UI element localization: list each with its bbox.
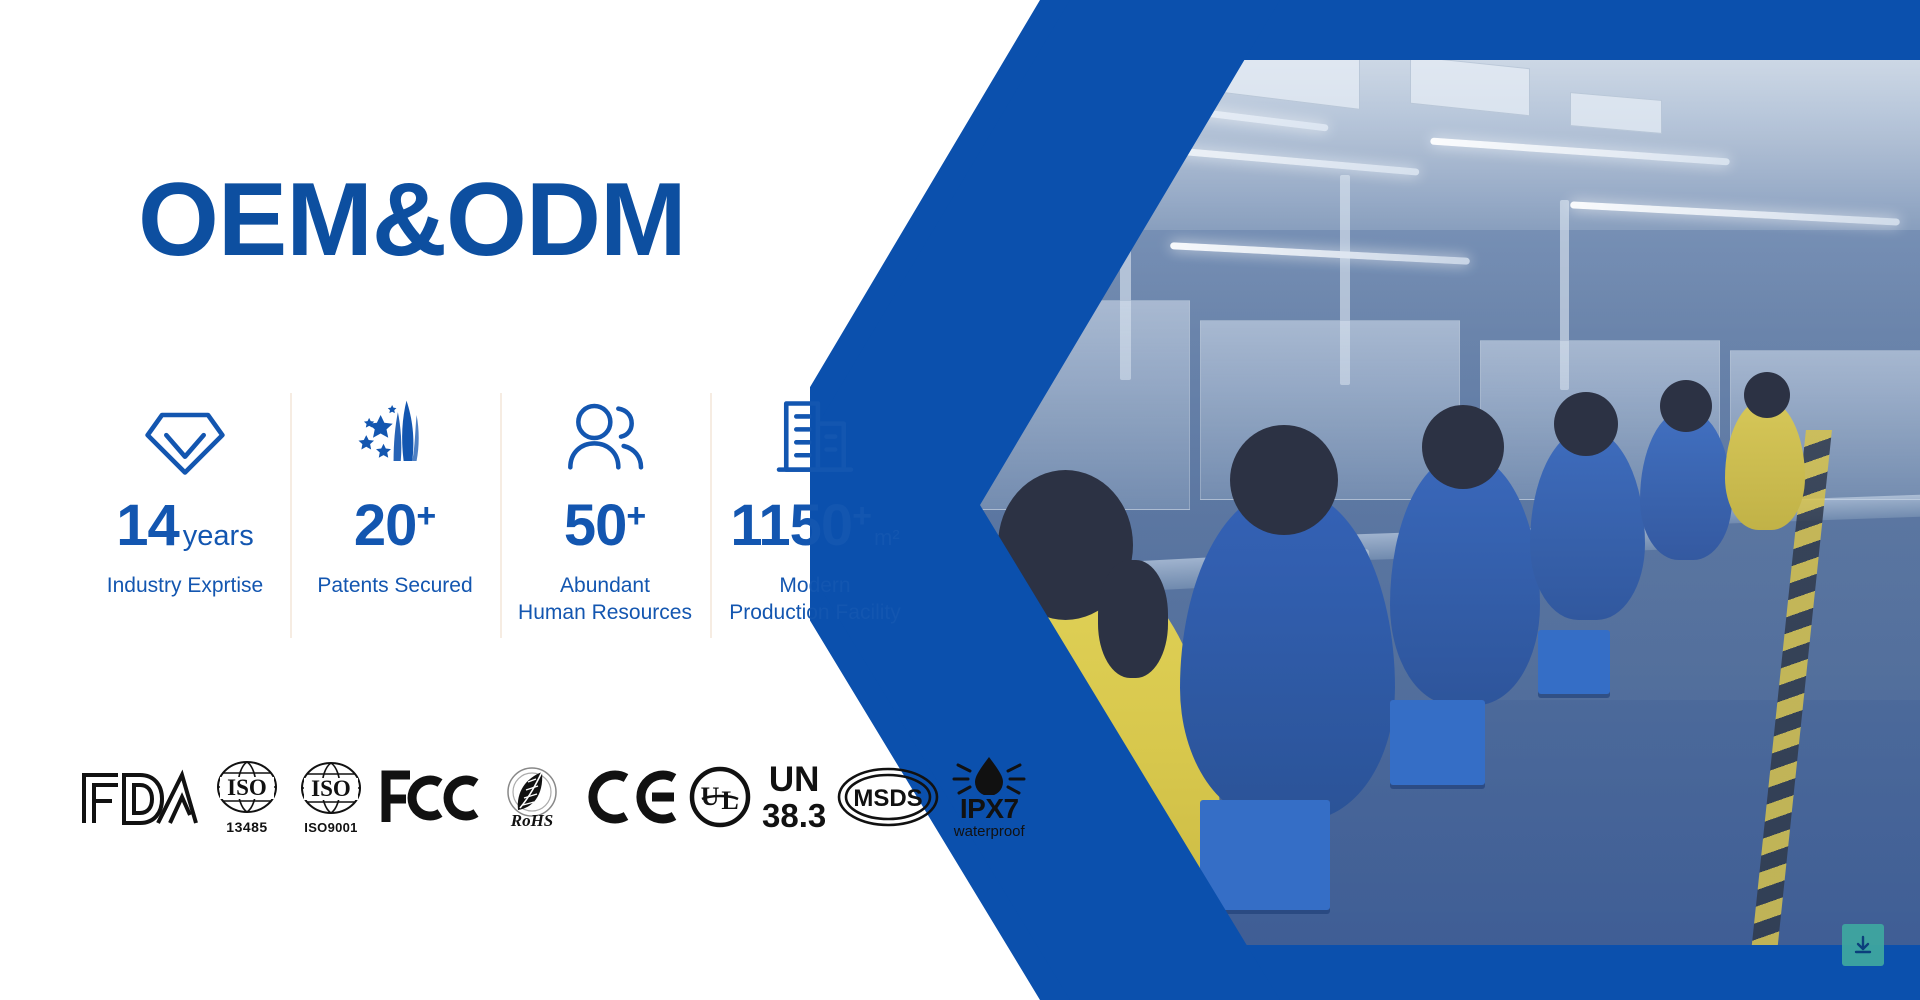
ipx7-label: IPX7: [960, 795, 1019, 823]
stat-number-suffix: +: [852, 499, 872, 533]
stat-item-industry-expertise: 14 years Industry Exprtise: [80, 385, 290, 640]
msds-badge: MSDS: [836, 765, 940, 829]
stat-label-line2: Human Resources: [506, 600, 704, 627]
rohs-badge: RoHS: [492, 764, 572, 830]
stat-number: 20 +: [296, 497, 494, 555]
svg-text:RoHS: RoHS: [510, 811, 554, 830]
un-38-3-badge: UN 38.3: [762, 762, 826, 832]
worker-head: [1744, 372, 1790, 418]
worker-head: [1660, 380, 1712, 432]
ceiling-light: [1170, 242, 1470, 265]
certification-badges-row: ISO 13485 ISO ISO9001: [78, 742, 978, 852]
stat-unit: years: [183, 522, 254, 551]
svg-text:ISO: ISO: [311, 776, 351, 801]
stat-label-line1: Modern: [716, 573, 914, 600]
un-number: 38.3: [762, 799, 826, 832]
stat-label: Patents Secured: [296, 573, 494, 600]
stat-label-line2: Production Facility: [716, 600, 914, 627]
factory-photo: [870, 0, 1920, 1000]
fcc-badge: [378, 767, 482, 827]
stat-number: 50 +: [506, 497, 704, 555]
ul-badge: U L: [688, 765, 752, 829]
stat-label-line1: Abundant: [506, 573, 704, 600]
iso-9001-number: ISO9001: [304, 821, 357, 834]
stool: [1538, 630, 1610, 694]
stat-label-line1: Industry Exprtise: [86, 573, 284, 600]
page-title: OEM&ODM: [138, 168, 686, 272]
stool: [1390, 700, 1485, 785]
iso-13485-badge: ISO 13485: [210, 760, 284, 834]
stat-number: 1150 + m²: [716, 497, 914, 555]
stat-number-suffix: +: [416, 499, 436, 533]
ipx7-badge: IPX7 waterproof: [950, 755, 1028, 839]
patent-award-icon: [296, 385, 494, 491]
factory-photo-image: [870, 0, 1920, 1000]
diamond-gem-icon: [86, 385, 284, 491]
stat-number-value: 14: [116, 497, 179, 555]
stat-item-human-resources: 50 + Abundant Human Resources: [500, 385, 710, 640]
stat-number-value: 50: [564, 497, 627, 555]
download-badge-icon[interactable]: [1842, 924, 1884, 966]
svg-text:ISO: ISO: [227, 775, 267, 800]
worker-head: [1230, 425, 1338, 535]
worker-head: [1554, 392, 1618, 456]
worker-hair-bun: [1098, 560, 1168, 678]
stat-number-value: 1150: [730, 497, 852, 555]
iso-9001-badge: ISO ISO9001: [294, 761, 368, 834]
un-label: UN: [769, 762, 820, 797]
stat-number: 14 years: [86, 497, 284, 555]
users-group-icon: [506, 385, 704, 491]
stats-row: 14 years Industry Exprtise: [80, 385, 920, 655]
ipx7-sub-label: waterproof: [954, 824, 1025, 839]
stat-label: Industry Exprtise: [86, 573, 284, 600]
building-factory-icon: [716, 385, 914, 491]
svg-text:L: L: [721, 786, 738, 815]
fda-badge: [78, 765, 200, 829]
stool: [1200, 800, 1330, 910]
stat-unit: m²: [874, 527, 900, 549]
ceiling-area: [870, 0, 1920, 230]
stat-number-suffix: +: [626, 499, 646, 533]
stat-label: Modern Production Facility: [716, 573, 914, 627]
stat-item-production-facility: 1150 + m² Modern Production Facility: [710, 385, 920, 640]
stat-label: Abundant Human Resources: [506, 573, 704, 627]
left-content: OEM&ODM 14 years Industry Exprtise: [0, 0, 1020, 1000]
stat-label-line1: Patents Secured: [296, 573, 494, 600]
iso-13485-number: 13485: [226, 820, 267, 834]
ce-badge: [582, 768, 678, 826]
svg-text:MSDS: MSDS: [854, 785, 923, 812]
stat-number-value: 20: [354, 497, 417, 555]
stat-item-patents: 20 + Patents Secured: [290, 385, 500, 640]
worker-head: [1422, 405, 1504, 489]
oem-odm-banner: OEM&ODM 14 years Industry Exprtise: [0, 0, 1920, 1000]
